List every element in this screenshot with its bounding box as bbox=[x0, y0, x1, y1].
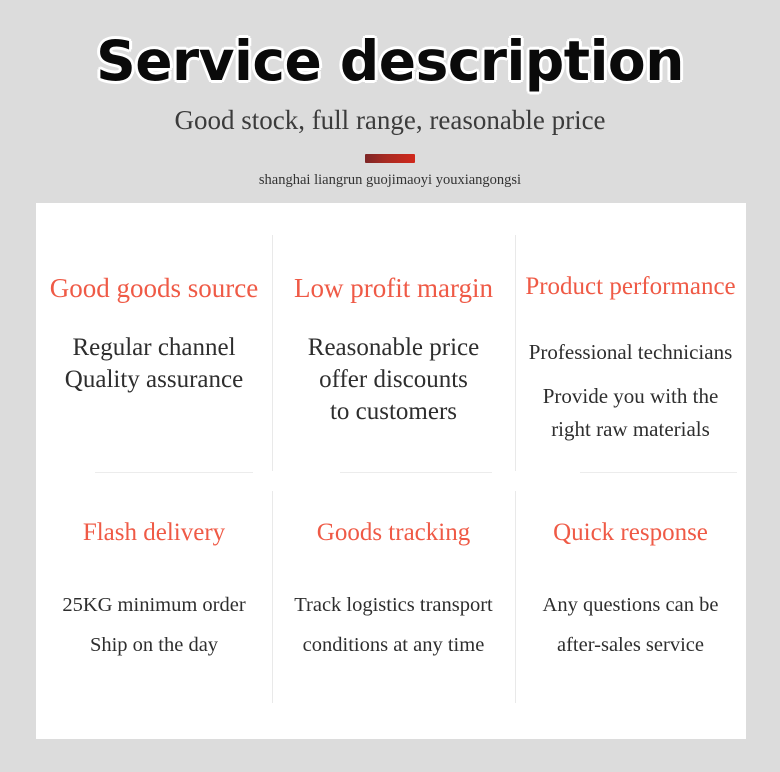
vertical-divider bbox=[515, 235, 516, 471]
feature-heading: Flash delivery bbox=[83, 472, 225, 548]
vertical-divider bbox=[515, 491, 516, 703]
feature-body-line-2: conditions at any time bbox=[303, 634, 485, 656]
feature-body-line-1: Regular channel bbox=[72, 334, 235, 361]
feature-card-product-performance: Product performance Professional technic… bbox=[515, 203, 746, 472]
accent-divider-bar bbox=[365, 154, 415, 163]
page-header: Service description Good stock, full ran… bbox=[0, 0, 780, 189]
feature-body-line-2: Provide you with the bbox=[543, 384, 719, 408]
feature-body-line-2: offer discounts bbox=[319, 366, 468, 393]
feature-heading: Quick response bbox=[553, 472, 708, 548]
feature-body-line-1: Any questions can be bbox=[543, 594, 719, 616]
feature-body-line-3: to customers bbox=[330, 398, 457, 425]
feature-body: Any questions can be after-sales service bbox=[543, 548, 719, 666]
feature-body-line-2: Ship on the day bbox=[90, 634, 218, 656]
feature-body: Reasonable price offer discounts to cust… bbox=[308, 304, 479, 428]
company-name: shanghai liangrun guojimaoyi youxiangong… bbox=[0, 172, 780, 189]
feature-card-flash-delivery: Flash delivery 25KG minimum order Ship o… bbox=[36, 472, 272, 739]
feature-heading: Product performance bbox=[525, 203, 735, 302]
feature-body-line-3: right raw materials bbox=[551, 417, 710, 441]
feature-body: Professional technicians Provide you wit… bbox=[529, 302, 733, 446]
feature-body: Regular channel Quality assurance bbox=[65, 304, 243, 396]
feature-body-line-2: Quality assurance bbox=[65, 366, 243, 393]
feature-card-quick-response: Quick response Any questions can be afte… bbox=[515, 472, 746, 739]
horizontal-divider bbox=[340, 472, 492, 473]
feature-heading: Low profit margin bbox=[294, 203, 493, 304]
vertical-divider bbox=[272, 491, 273, 703]
page-title: Service description bbox=[0, 34, 780, 89]
feature-body-line-1: Reasonable price bbox=[308, 334, 479, 361]
features-grid: Good goods source Regular channel Qualit… bbox=[36, 203, 746, 739]
feature-body-line-1: Track logistics transport bbox=[294, 594, 493, 616]
feature-card-good-goods-source: Good goods source Regular channel Qualit… bbox=[36, 203, 272, 472]
feature-body-line-2: after-sales service bbox=[557, 634, 704, 656]
feature-heading: Good goods source bbox=[50, 203, 258, 304]
features-panel: Good goods source Regular channel Qualit… bbox=[36, 203, 746, 739]
feature-body-line-1: Professional technicians bbox=[529, 336, 733, 369]
page-subtitle: Good stock, full range, reasonable price bbox=[0, 106, 780, 136]
horizontal-divider bbox=[95, 472, 253, 473]
feature-card-low-profit-margin: Low profit margin Reasonable price offer… bbox=[272, 203, 515, 472]
vertical-divider bbox=[272, 235, 273, 471]
feature-body-line-1: 25KG minimum order bbox=[62, 594, 245, 616]
feature-card-goods-tracking: Goods tracking Track logistics transport… bbox=[272, 472, 515, 739]
feature-body: Track logistics transport conditions at … bbox=[294, 548, 493, 666]
feature-heading: Goods tracking bbox=[317, 472, 470, 548]
horizontal-divider bbox=[580, 472, 737, 473]
feature-body: 25KG minimum order Ship on the day bbox=[62, 548, 245, 666]
